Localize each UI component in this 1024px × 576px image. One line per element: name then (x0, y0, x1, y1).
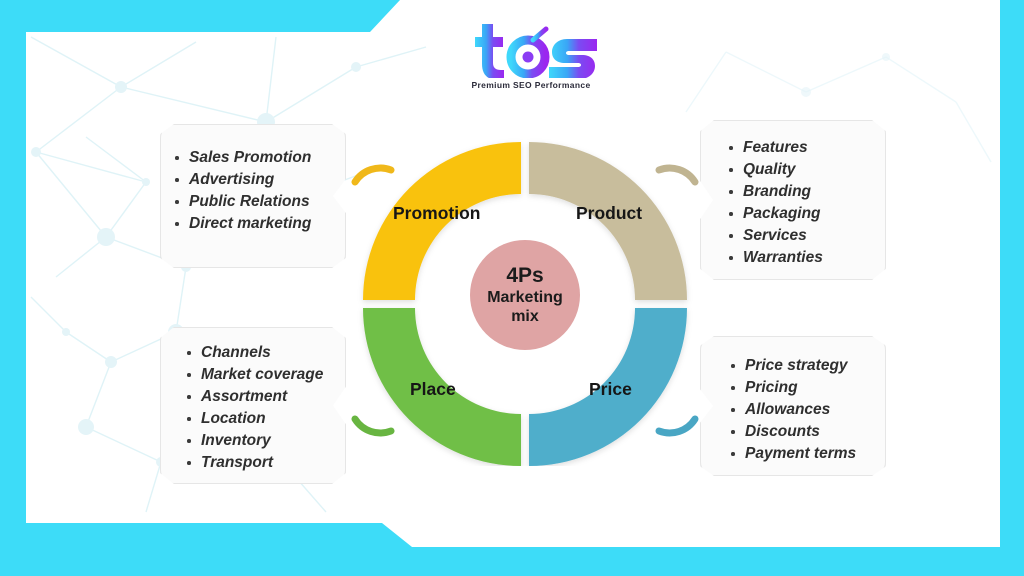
center-title: 4Ps (506, 264, 543, 288)
list-item: Market coverage (185, 364, 345, 386)
list-item: Sales Promotion (173, 147, 345, 169)
connector-arc-price (659, 419, 695, 433)
list-item: Advertising (173, 169, 345, 191)
list-item: Quality (727, 159, 885, 181)
segment-label-price[interactable]: Price (589, 379, 632, 400)
logo-tagline: Premium SEO Performance (446, 80, 616, 90)
connector-arc-promotion (355, 168, 391, 182)
price-item-list: Price strategy Pricing Allowances Discou… (729, 355, 885, 465)
list-item: Price strategy (729, 355, 885, 377)
list-item: Features (727, 137, 885, 159)
list-item: Packaging (727, 203, 885, 225)
list-item: Assortment (185, 386, 345, 408)
promotion-item-list: Sales Promotion Advertising Public Relat… (173, 147, 345, 235)
segment-label-place[interactable]: Place (410, 379, 456, 400)
callout-price: Price strategy Pricing Allowances Discou… (700, 336, 886, 476)
donut-center-hub: 4Ps Marketing mix (470, 240, 580, 350)
list-item: Public Relations (173, 191, 345, 213)
list-item: Inventory (185, 430, 345, 452)
place-item-list: Channels Market coverage Assortment Loca… (185, 342, 345, 474)
center-subtitle-line1: Marketing (487, 288, 563, 307)
list-item: Channels (185, 342, 345, 364)
segment-label-product[interactable]: Product (576, 203, 642, 224)
list-item: Allowances (729, 399, 885, 421)
callout-promotion: Sales Promotion Advertising Public Relat… (160, 124, 346, 268)
segment-label-promotion[interactable]: Promotion (393, 203, 481, 224)
center-subtitle-line2: mix (511, 307, 539, 326)
connector-arc-product (659, 168, 695, 182)
list-item: Payment terms (729, 443, 885, 465)
list-item: Services (727, 225, 885, 247)
list-item: Transport (185, 452, 345, 474)
list-item: Pricing (729, 377, 885, 399)
callout-place: Channels Market coverage Assortment Loca… (160, 327, 346, 484)
product-item-list: Features Quality Branding Packaging Serv… (727, 137, 885, 269)
list-item: Warranties (727, 247, 885, 269)
slide-canvas: Premium SEO Performance Promotion Pr (0, 0, 1024, 576)
tos-wordmark-icon (460, 22, 602, 78)
list-item: Discounts (729, 421, 885, 443)
brand-logo: Premium SEO Performance (446, 22, 616, 102)
callout-product: Features Quality Branding Packaging Serv… (700, 120, 886, 280)
list-item: Branding (727, 181, 885, 203)
connector-arc-place (355, 419, 391, 433)
list-item: Direct marketing (173, 213, 345, 235)
list-item: Location (185, 408, 345, 430)
